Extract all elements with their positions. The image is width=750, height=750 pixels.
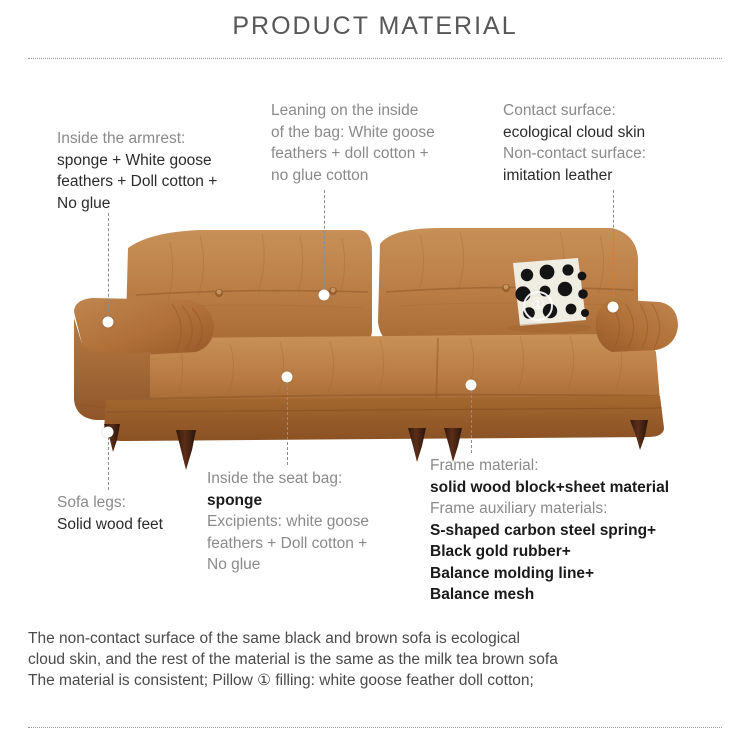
callout-leaning-on-the-inside-of-the-bag: Leaning on the inside of the bag: White … bbox=[271, 100, 471, 186]
callout-sofa-legs: Sofa legs: Solid wood feet bbox=[57, 492, 163, 535]
callout-line: Leaning on the inside bbox=[271, 100, 471, 122]
callout-line: of the bag: White goose bbox=[271, 122, 471, 144]
leader-line-seat bbox=[287, 377, 288, 465]
leader-line-legs bbox=[108, 432, 109, 490]
callout-line: Balance mesh bbox=[430, 584, 730, 606]
callout-line: sponge + White goose bbox=[57, 150, 282, 172]
callout-line: Balance molding line+ bbox=[430, 563, 730, 585]
callout-line: Inside the seat bag: bbox=[207, 468, 422, 490]
callout-line: feathers + Doll cotton + bbox=[57, 171, 282, 193]
callout-inside-the-armrest: Inside the armrest: sponge + White goose… bbox=[57, 128, 282, 214]
callout-dot-leaning[interactable] bbox=[319, 290, 330, 301]
pillow-number-marker: ① bbox=[523, 291, 553, 321]
footer-line: cloud skin, and the rest of the material… bbox=[28, 649, 728, 670]
callout-dot-armrest[interactable] bbox=[103, 317, 114, 328]
callout-line: feathers + Doll cotton + bbox=[207, 533, 422, 555]
callout-line: Solid wood feet bbox=[57, 514, 163, 536]
callout-line: sponge bbox=[207, 490, 422, 512]
page-title: PRODUCT MATERIAL bbox=[0, 12, 750, 41]
callout-dot-legs[interactable] bbox=[103, 427, 114, 438]
callout-line: Excipients: white goose bbox=[207, 511, 422, 533]
callout-frame-material: Frame material: solid wood block+sheet m… bbox=[430, 455, 730, 606]
divider-bottom bbox=[28, 727, 722, 728]
footer-line: The material is consistent; Pillow ① fil… bbox=[28, 670, 728, 691]
callout-line: Non-contact surface: bbox=[503, 143, 728, 165]
leader-line-leaning bbox=[324, 190, 325, 295]
product-material-infographic: PRODUCT MATERIAL bbox=[0, 0, 750, 750]
callout-line: Black gold rubber+ bbox=[430, 541, 730, 563]
callout-line: No glue bbox=[207, 554, 422, 576]
callout-line: No glue bbox=[57, 193, 282, 215]
callout-inside-the-seat-bag: Inside the seat bag: sponge Excipients: … bbox=[207, 468, 422, 576]
callout-line: solid wood block+sheet material bbox=[430, 477, 730, 499]
callout-line: Sofa legs: bbox=[57, 492, 163, 514]
callout-line: Contact surface: bbox=[503, 100, 728, 122]
divider-top bbox=[28, 58, 722, 59]
leader-line-armrest bbox=[108, 213, 109, 322]
callout-dot-seat[interactable] bbox=[282, 372, 293, 383]
footer-note: The non-contact surface of the same blac… bbox=[28, 628, 728, 691]
callout-contact-surface: Contact surface: ecological cloud skin N… bbox=[503, 100, 728, 186]
callout-line: imitation leather bbox=[503, 165, 728, 187]
callout-line: Inside the armrest: bbox=[57, 128, 282, 150]
callout-dot-contact[interactable] bbox=[608, 302, 619, 313]
callout-line: S-shaped carbon steel spring+ bbox=[430, 520, 730, 542]
callout-line: no glue cotton bbox=[271, 165, 471, 187]
callout-line: ecological cloud skin bbox=[503, 122, 728, 144]
leader-line-frame bbox=[471, 385, 472, 453]
callout-line: Frame auxiliary materials: bbox=[430, 498, 730, 520]
leader-line-contact bbox=[613, 190, 614, 307]
callout-dot-frame[interactable] bbox=[466, 380, 477, 391]
callout-line: feathers + doll cotton + bbox=[271, 143, 471, 165]
callout-line: Frame material: bbox=[430, 455, 730, 477]
footer-line: The non-contact surface of the same blac… bbox=[28, 628, 728, 649]
